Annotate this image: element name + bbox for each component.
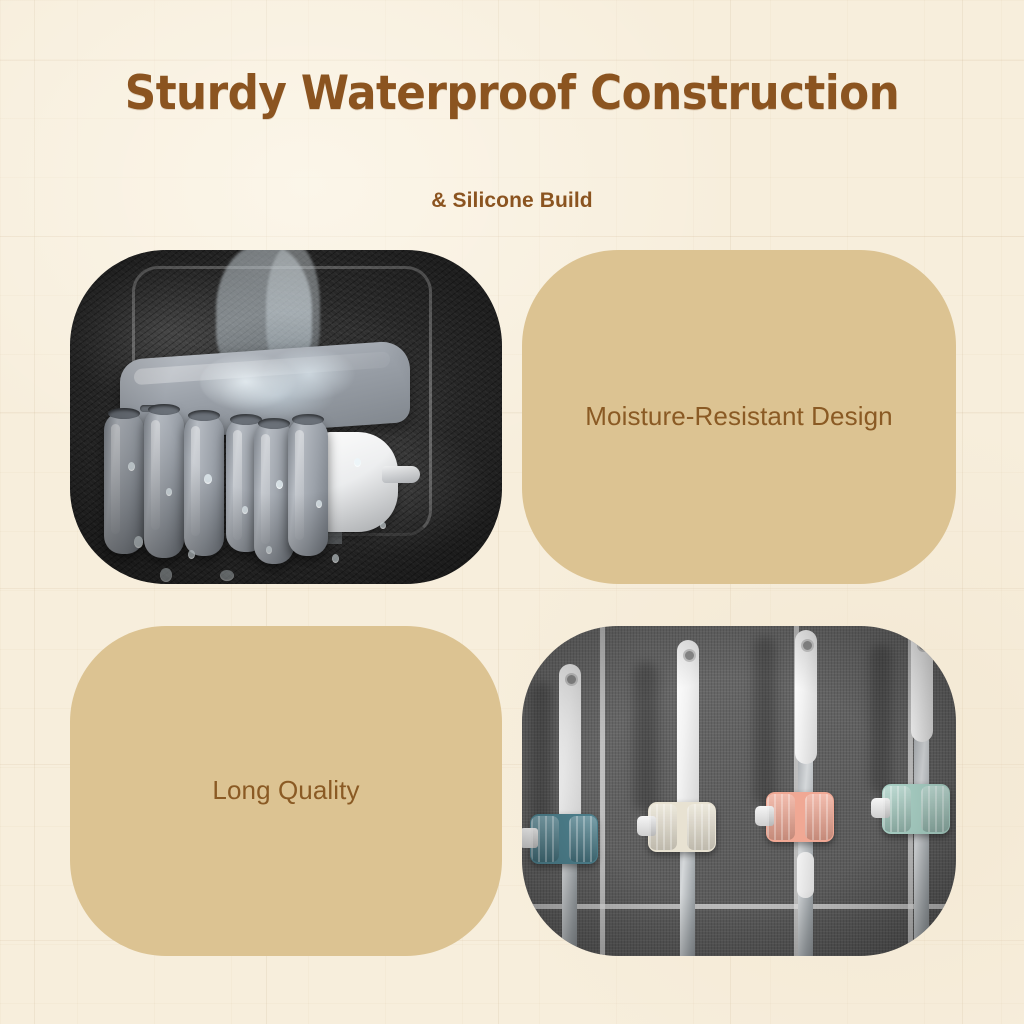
card-moisture-label: Moisture-Resistant Design (543, 399, 934, 435)
pole-collar (797, 852, 814, 898)
card-quality-label: Long Quality (170, 773, 401, 809)
clip-jaw-left (767, 794, 795, 840)
page-subtitle: & Silicone Build (0, 189, 1024, 213)
photo-wall-mounted-holders (522, 626, 956, 956)
photo-vignette (70, 250, 502, 584)
clip-jaw-right (569, 816, 597, 862)
clip-jaw-right (921, 786, 949, 832)
mop-pole (914, 734, 929, 956)
mop-clip-mint[interactable] (882, 784, 950, 834)
mop-handle-grip (795, 630, 817, 764)
mop-handle-grip (911, 630, 933, 742)
photo-waterproof-test (70, 250, 502, 584)
mop-shadow (530, 682, 552, 822)
clip-jaw-left (531, 816, 559, 862)
clip-jaw-left (883, 786, 911, 832)
mop-clip-cream[interactable] (648, 802, 716, 852)
clip-jaw-right (805, 794, 833, 840)
page-title: Sturdy Waterproof Construction (36, 66, 988, 121)
mop-pole (798, 746, 813, 956)
card-moisture-resistant: Moisture-Resistant Design (522, 250, 956, 584)
mop-clip-pink[interactable] (766, 792, 834, 842)
mop-shadow (754, 636, 776, 806)
infographic-canvas: Sturdy Waterproof Construction & Silicon… (0, 0, 1024, 1024)
clip-jaw-left (649, 804, 677, 850)
clip-jaw-right (687, 804, 715, 850)
card-long-quality: Long Quality (70, 626, 502, 956)
grout-line-horizontal (522, 904, 956, 909)
mop-shadow (870, 644, 892, 794)
mop-clip-teal[interactable] (530, 814, 598, 864)
mop-handle-grip (559, 664, 581, 824)
mop-shadow (634, 662, 658, 812)
